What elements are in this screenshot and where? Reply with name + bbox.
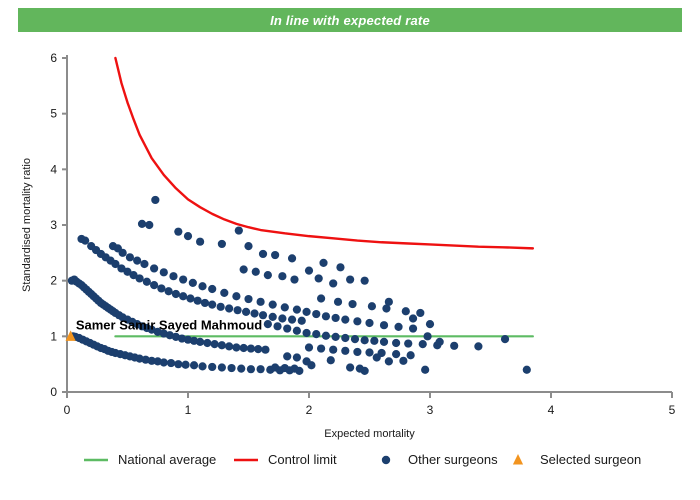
other-surgeon-point[interactable]: [165, 287, 173, 295]
other-surgeon-point[interactable]: [247, 365, 255, 373]
other-surgeon-point[interactable]: [184, 232, 192, 240]
other-surgeon-point[interactable]: [186, 294, 194, 302]
other-surgeon-point[interactable]: [365, 319, 373, 327]
x-tick-label: 0: [64, 403, 71, 417]
other-surgeon-point[interactable]: [119, 249, 127, 257]
other-surgeon-point[interactable]: [365, 348, 373, 356]
other-surgeon-point[interactable]: [160, 358, 168, 366]
other-surgeon-point[interactable]: [261, 346, 269, 354]
other-surgeon-point[interactable]: [317, 294, 325, 302]
other-surgeon-point[interactable]: [264, 271, 272, 279]
other-surgeon-point[interactable]: [322, 312, 330, 320]
other-surgeon-point[interactable]: [271, 363, 279, 371]
other-surgeon-point[interactable]: [234, 306, 242, 314]
other-surgeon-point[interactable]: [151, 196, 159, 204]
other-surgeon-point[interactable]: [172, 290, 180, 298]
other-surgeon-point[interactable]: [250, 309, 258, 317]
other-surgeon-point[interactable]: [264, 320, 272, 328]
other-surgeon-point[interactable]: [179, 275, 187, 283]
other-surgeon-point[interactable]: [426, 320, 434, 328]
other-surgeon-point[interactable]: [242, 308, 250, 316]
other-surgeon-point[interactable]: [290, 275, 298, 283]
x-tick-label: 1: [185, 403, 192, 417]
other-surgeon-point[interactable]: [450, 342, 458, 350]
chart-area: 0123456012345Expected mortalityStandardi…: [0, 34, 700, 500]
other-surgeon-point[interactable]: [269, 301, 277, 309]
y-axis-title: Standardised mortality ratio: [21, 158, 33, 292]
other-surgeon-point[interactable]: [269, 313, 277, 321]
other-surgeon-point[interactable]: [307, 361, 315, 369]
other-surgeon-point[interactable]: [302, 308, 310, 316]
other-surgeon-point[interactable]: [319, 259, 327, 267]
other-surgeon-point[interactable]: [298, 317, 306, 325]
other-surgeon-point[interactable]: [336, 263, 344, 271]
other-surgeon-point[interactable]: [189, 279, 197, 287]
other-surgeon-point[interactable]: [81, 236, 89, 244]
other-surgeon-point[interactable]: [145, 221, 153, 229]
other-surgeon-point[interactable]: [351, 335, 359, 343]
other-surgeon-point[interactable]: [402, 307, 410, 315]
other-surgeon-point[interactable]: [305, 267, 313, 275]
other-surgeon-point[interactable]: [290, 365, 298, 373]
x-tick-label: 3: [427, 403, 434, 417]
other-surgeon-point[interactable]: [247, 344, 255, 352]
other-surgeon-point[interactable]: [399, 357, 407, 365]
other-surgeon-point[interactable]: [407, 351, 415, 359]
other-surgeon-point[interactable]: [136, 274, 144, 282]
legend-item-label: National average: [118, 452, 216, 467]
other-surgeon-point[interactable]: [196, 238, 204, 246]
other-surgeon-point[interactable]: [346, 363, 354, 371]
other-surgeon-point[interactable]: [240, 344, 248, 352]
other-surgeon-point[interactable]: [140, 260, 148, 268]
other-surgeon-point[interactable]: [208, 363, 216, 371]
x-tick-label: 5: [669, 403, 676, 417]
other-surgeon-point[interactable]: [169, 272, 177, 280]
other-surgeon-point[interactable]: [126, 253, 134, 261]
other-surgeon-point[interactable]: [257, 298, 265, 306]
y-tick-label: 0: [50, 385, 57, 399]
other-surgeon-point[interactable]: [220, 289, 228, 297]
y-tick-label: 1: [50, 329, 57, 343]
other-surgeon-point[interactable]: [394, 323, 402, 331]
other-surgeon-point[interactable]: [150, 281, 158, 289]
other-surgeon-point[interactable]: [174, 360, 182, 368]
other-surgeon-point[interactable]: [341, 347, 349, 355]
other-surgeon-point[interactable]: [474, 342, 482, 350]
other-surgeon-point[interactable]: [138, 220, 146, 228]
other-surgeon-point[interactable]: [380, 338, 388, 346]
funnel-plot-page: In line with expected rate 0123456012345…: [0, 0, 700, 500]
other-surgeon-point[interactable]: [217, 303, 225, 311]
other-surgeon-point[interactable]: [278, 272, 286, 280]
other-surgeon-point[interactable]: [211, 340, 219, 348]
other-surgeon-point[interactable]: [334, 298, 342, 306]
other-surgeon-point[interactable]: [157, 284, 165, 292]
other-surgeon-point[interactable]: [201, 299, 209, 307]
other-surgeon-point[interactable]: [237, 365, 245, 373]
other-surgeon-point[interactable]: [232, 292, 240, 300]
other-surgeon-point[interactable]: [341, 334, 349, 342]
other-surgeon-point[interactable]: [523, 366, 531, 374]
other-surgeon-point[interactable]: [218, 240, 226, 248]
other-surgeon-point[interactable]: [305, 343, 313, 351]
other-surgeon-point[interactable]: [244, 242, 252, 250]
status-banner: In line with expected rate: [18, 8, 682, 32]
other-surgeon-point[interactable]: [404, 339, 412, 347]
legend-item[interactable]: Control limit: [234, 452, 337, 467]
other-surgeon-point[interactable]: [208, 301, 216, 309]
other-surgeon-point[interactable]: [278, 314, 286, 322]
other-surgeon-point[interactable]: [332, 314, 340, 322]
other-surgeon-point[interactable]: [232, 343, 240, 351]
funnel-plot-svg: 0123456012345Expected mortalityStandardi…: [0, 34, 700, 500]
other-surgeon-point[interactable]: [353, 317, 361, 325]
other-surgeon-point[interactable]: [419, 340, 427, 348]
x-axis-title: Expected mortality: [324, 428, 415, 440]
other-surgeon-point[interactable]: [252, 268, 260, 276]
other-surgeon-point[interactable]: [370, 337, 378, 345]
other-surgeon-point[interactable]: [385, 357, 393, 365]
other-surgeon-point[interactable]: [198, 282, 206, 290]
other-surgeon-point[interactable]: [423, 332, 431, 340]
other-surgeon-point[interactable]: [356, 365, 364, 373]
other-surgeon-point[interactable]: [501, 335, 509, 343]
other-surgeon-point[interactable]: [392, 339, 400, 347]
other-surgeon-point[interactable]: [174, 228, 182, 236]
other-surgeon-point[interactable]: [240, 265, 248, 273]
other-surgeon-point[interactable]: [203, 339, 211, 347]
other-surgeon-point[interactable]: [283, 352, 291, 360]
other-surgeon-point[interactable]: [361, 277, 369, 285]
x-tick-label: 2: [306, 403, 313, 417]
other-surgeon-point[interactable]: [346, 275, 354, 283]
y-tick-label: 2: [50, 274, 57, 288]
other-surgeon-point[interactable]: [302, 329, 310, 337]
legend-item-label: Control limit: [268, 452, 337, 467]
other-surgeon-point[interactable]: [392, 350, 400, 358]
other-surgeon-point[interactable]: [283, 324, 291, 332]
legend-item-label: Selected surgeon: [540, 452, 641, 467]
other-surgeon-point[interactable]: [327, 356, 335, 364]
legend-item[interactable]: Selected surgeon: [513, 452, 641, 467]
other-surgeon-point[interactable]: [271, 251, 279, 259]
other-surgeon-point[interactable]: [409, 324, 417, 332]
legend-item[interactable]: National average: [84, 452, 216, 467]
other-surgeon-point[interactable]: [373, 353, 381, 361]
other-surgeon-point[interactable]: [198, 362, 206, 370]
other-surgeon-point[interactable]: [368, 302, 376, 310]
other-surgeon-point[interactable]: [332, 333, 340, 341]
other-surgeon-point[interactable]: [288, 254, 296, 262]
other-surgeon-point[interactable]: [150, 264, 158, 272]
y-tick-label: 5: [50, 107, 57, 121]
y-tick-label: 4: [50, 162, 57, 176]
other-surgeon-point[interactable]: [143, 278, 151, 286]
other-surgeon-point[interactable]: [361, 336, 369, 344]
other-surgeon-point[interactable]: [312, 330, 320, 338]
other-surgeon-point[interactable]: [421, 366, 429, 374]
other-surgeon-point[interactable]: [244, 295, 252, 303]
other-surgeon-point[interactable]: [181, 361, 189, 369]
y-tick-label: 3: [50, 218, 57, 232]
other-surgeon-point[interactable]: [218, 363, 226, 371]
other-surgeon-point[interactable]: [348, 300, 356, 308]
other-surgeon-point[interactable]: [179, 292, 187, 300]
legend-triangle-swatch: [513, 454, 523, 465]
other-surgeon-point[interactable]: [194, 297, 202, 305]
other-surgeon-point[interactable]: [225, 304, 233, 312]
other-surgeon-point[interactable]: [322, 332, 330, 340]
selected-surgeon-annotation: Samer Samir Sayed Mahmoud: [76, 318, 262, 333]
other-surgeon-point[interactable]: [227, 364, 235, 372]
other-surgeon-point[interactable]: [416, 309, 424, 317]
other-surgeon-point[interactable]: [288, 316, 296, 324]
other-surgeon-point[interactable]: [293, 327, 301, 335]
other-surgeon-point[interactable]: [315, 274, 323, 282]
other-surgeon-point[interactable]: [281, 364, 289, 372]
other-surgeon-point[interactable]: [160, 268, 168, 276]
other-surgeon-point[interactable]: [385, 298, 393, 306]
other-surgeon-point[interactable]: [235, 226, 243, 234]
other-surgeon-point[interactable]: [281, 303, 289, 311]
other-surgeon-point[interactable]: [293, 353, 301, 361]
other-surgeon-point[interactable]: [329, 279, 337, 287]
other-surgeon-point[interactable]: [254, 345, 262, 353]
y-tick-label: 6: [50, 51, 57, 65]
legend-item[interactable]: Other surgeons: [382, 452, 498, 467]
other-surgeon-point[interactable]: [133, 257, 141, 265]
control-limit-line: [115, 58, 532, 248]
other-surgeon-point[interactable]: [208, 285, 216, 293]
legend-item-label: Other surgeons: [408, 452, 498, 467]
other-surgeon-point[interactable]: [409, 314, 417, 322]
other-surgeon-point[interactable]: [257, 365, 265, 373]
other-surgeon-point[interactable]: [273, 322, 281, 330]
other-surgeon-point[interactable]: [341, 316, 349, 324]
other-surgeon-point[interactable]: [380, 321, 388, 329]
other-surgeon-point[interactable]: [190, 361, 198, 369]
other-surgeon-point[interactable]: [293, 306, 301, 314]
status-banner-label: In line with expected rate: [270, 14, 430, 27]
other-surgeon-point[interactable]: [167, 359, 175, 367]
other-surgeon-point[interactable]: [218, 341, 226, 349]
other-surgeon-point[interactable]: [317, 344, 325, 352]
other-surgeon-point[interactable]: [312, 310, 320, 318]
other-surgeon-point[interactable]: [196, 338, 204, 346]
other-surgeon-point[interactable]: [353, 348, 361, 356]
x-tick-label: 4: [548, 403, 555, 417]
other-surgeon-point[interactable]: [436, 338, 444, 346]
other-surgeon-point[interactable]: [259, 250, 267, 258]
other-surgeon-point[interactable]: [329, 346, 337, 354]
legend-circle-swatch: [382, 456, 390, 464]
other-surgeon-point[interactable]: [225, 342, 233, 350]
other-surgeons-point-group: [68, 196, 531, 375]
